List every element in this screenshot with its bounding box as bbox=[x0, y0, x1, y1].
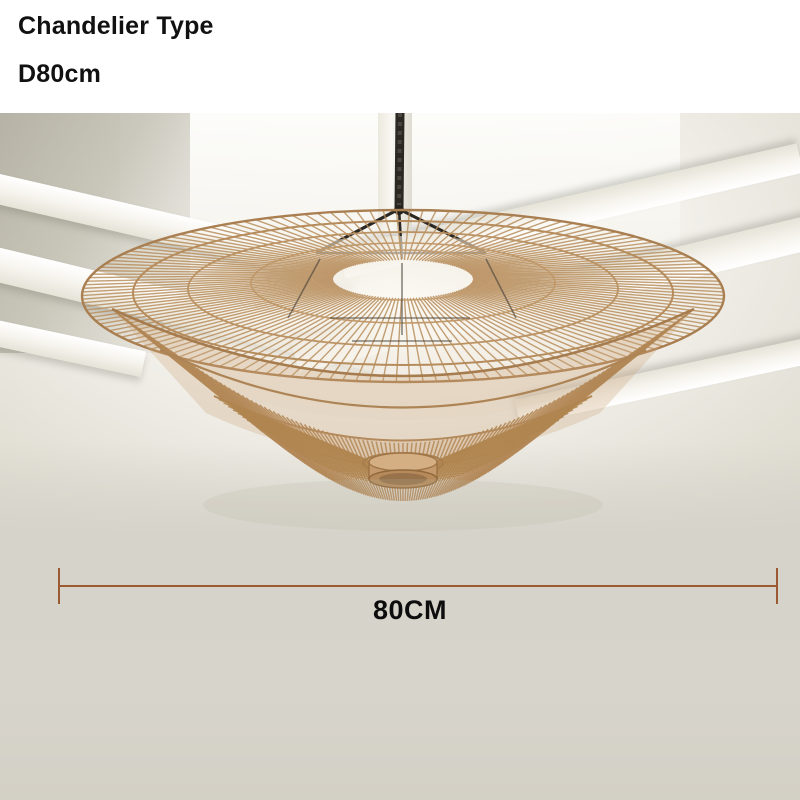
product-size-label: D80cm bbox=[18, 60, 101, 89]
dimension-label: 80CM bbox=[0, 595, 800, 626]
page-title: Chandelier Type bbox=[18, 12, 214, 41]
ceiling-beam-vertical bbox=[378, 113, 412, 233]
dimension-line bbox=[58, 585, 778, 587]
header: Chandelier Type D80cm bbox=[0, 0, 800, 113]
product-photo: 80CM bbox=[0, 113, 800, 800]
product-size-card: Chandelier Type D80cm bbox=[0, 0, 800, 800]
